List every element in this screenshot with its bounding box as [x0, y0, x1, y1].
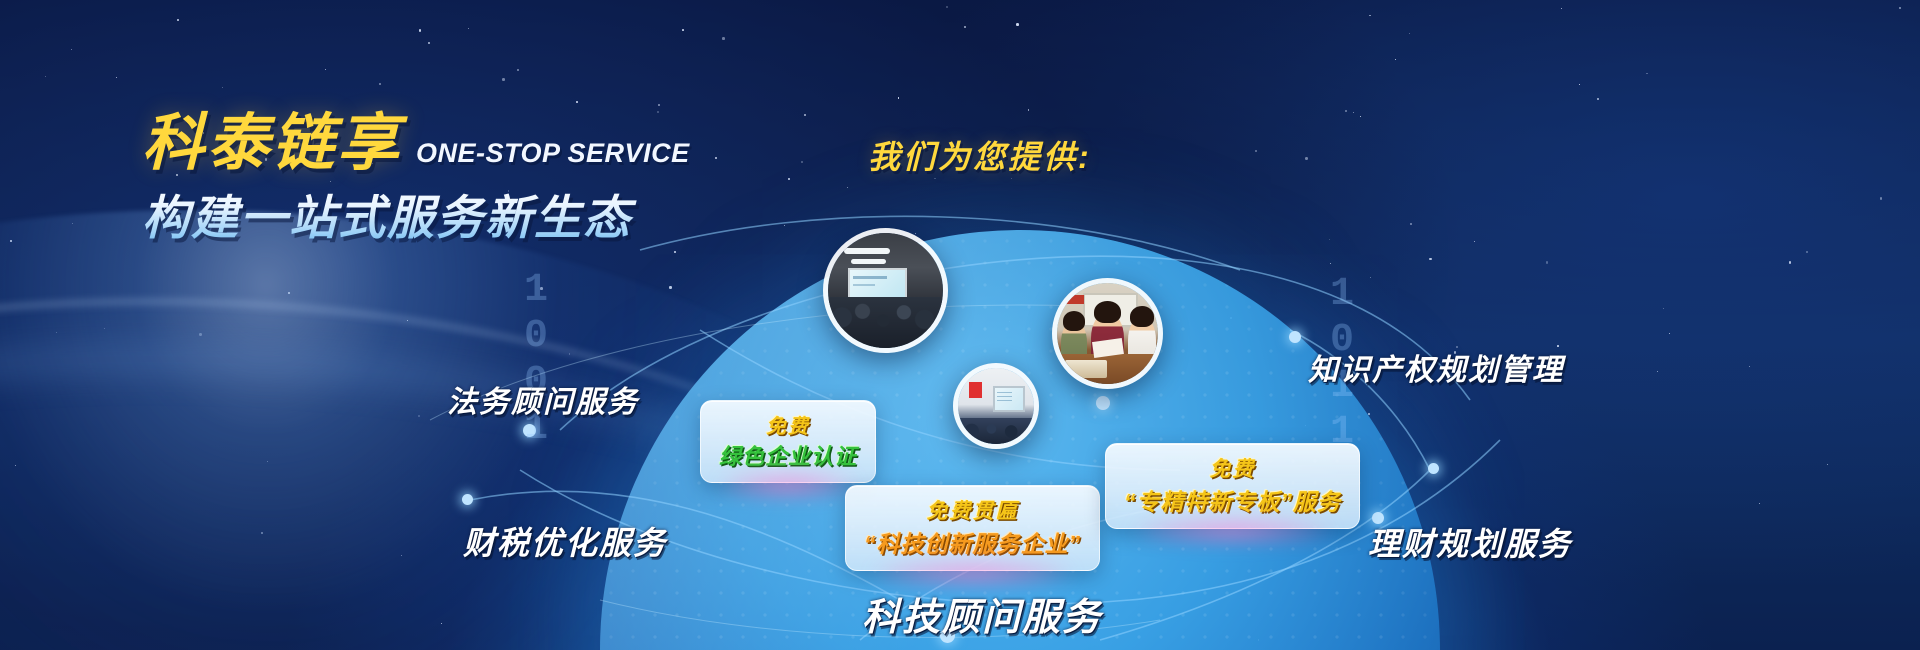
page-title: 科泰链享 — [142, 112, 402, 175]
node-left-lower — [462, 494, 473, 505]
badge-green-glow — [718, 472, 857, 498]
badge-tech-line1: 免费贯匾 — [864, 495, 1081, 525]
star — [1429, 258, 1431, 260]
badge-tech-line2: “科技创新服务企业” — [864, 525, 1081, 559]
star — [1646, 73, 1648, 75]
star — [1806, 251, 1808, 253]
badge-board-line2: “专精特新专板”服务 — [1124, 483, 1341, 517]
star — [1663, 308, 1664, 309]
binary-column-left: 1001 — [524, 268, 550, 452]
star — [502, 78, 505, 81]
star — [847, 187, 848, 188]
star — [1360, 116, 1361, 117]
badge-board-line1: 免费 — [1124, 453, 1341, 483]
badge-tech-innovation[interactable]: 免费贯匾 “科技创新服务企业” — [845, 485, 1100, 571]
badge-board-glow — [1131, 518, 1333, 544]
provide-label: 我们为您提供: — [868, 132, 1092, 178]
star — [946, 6, 949, 9]
star — [1759, 503, 1760, 504]
star — [1329, 239, 1330, 240]
star — [1789, 261, 1792, 264]
banner-stage: 1001 1011 科泰链享 ONE-STOP SERVICE 构建一站式服务新… — [0, 0, 1920, 650]
star — [674, 251, 676, 253]
star — [419, 29, 422, 32]
star — [1255, 150, 1257, 152]
star — [1597, 98, 1599, 100]
star — [669, 286, 671, 288]
training-seminar-photo — [823, 228, 948, 353]
star — [898, 97, 900, 99]
star — [116, 77, 117, 78]
star — [788, 178, 791, 181]
star — [1028, 109, 1029, 110]
badge-specialized-board[interactable]: 免费 “专精特新专板”服务 — [1105, 443, 1360, 529]
star — [1899, 7, 1901, 9]
star — [682, 29, 684, 31]
document-review-photo — [1052, 278, 1163, 389]
star — [1016, 23, 1019, 26]
star — [1546, 261, 1548, 263]
star — [1657, 371, 1658, 372]
star — [1749, 366, 1750, 367]
star — [658, 104, 660, 106]
star — [222, 87, 223, 88]
headline-english: ONE-STOP SERVICE — [416, 138, 690, 175]
star — [722, 37, 725, 40]
star — [1579, 84, 1580, 85]
star — [804, 114, 806, 116]
star — [1474, 241, 1475, 242]
star — [177, 19, 179, 21]
star — [1369, 15, 1371, 17]
meeting-room-photo — [953, 363, 1039, 449]
star — [1353, 112, 1354, 113]
star — [1880, 197, 1883, 200]
star — [1409, 33, 1410, 34]
star — [1370, 277, 1371, 278]
star — [379, 83, 381, 85]
service-label-tax-optimization[interactable]: 财税优化服务 — [463, 518, 667, 564]
service-label-legal-advisory[interactable]: 法务顾问服务 — [447, 377, 639, 421]
star — [576, 101, 578, 103]
badge-green-line2: 绿色企业认证 — [719, 439, 857, 471]
node-right-lower — [1428, 463, 1439, 474]
service-label-tech-advisory[interactable]: 科技顾问服务 — [862, 586, 1102, 641]
star — [1345, 110, 1347, 112]
service-label-ip-planning[interactable]: 知识产权规划管理 — [1308, 345, 1564, 389]
headline-block: 科泰链享 ONE-STOP SERVICE 构建一站式服务新生态 — [142, 112, 782, 248]
star — [1410, 223, 1412, 225]
badge-green-enterprise[interactable]: 免费 绿色企业认证 — [700, 400, 876, 483]
headline-subtitle: 构建一站式服务新生态 — [142, 179, 782, 248]
badge-tech-glow — [871, 560, 1073, 586]
star — [45, 76, 46, 77]
badge-green-line1: 免费 — [719, 410, 857, 439]
node-right-upper — [1289, 331, 1301, 343]
star — [1669, 333, 1671, 335]
star — [1395, 59, 1396, 60]
star — [1827, 464, 1828, 465]
star — [964, 26, 966, 28]
star — [1305, 157, 1308, 160]
star — [801, 161, 803, 163]
star — [1561, 8, 1562, 9]
star — [1330, 263, 1331, 264]
star — [71, 49, 72, 50]
service-label-wealth-planning[interactable]: 理财规划服务 — [1368, 519, 1572, 565]
star — [468, 28, 469, 29]
node-center-right — [1096, 396, 1110, 410]
star — [428, 42, 430, 44]
star — [784, 225, 785, 226]
star — [517, 69, 520, 72]
star — [325, 69, 326, 70]
